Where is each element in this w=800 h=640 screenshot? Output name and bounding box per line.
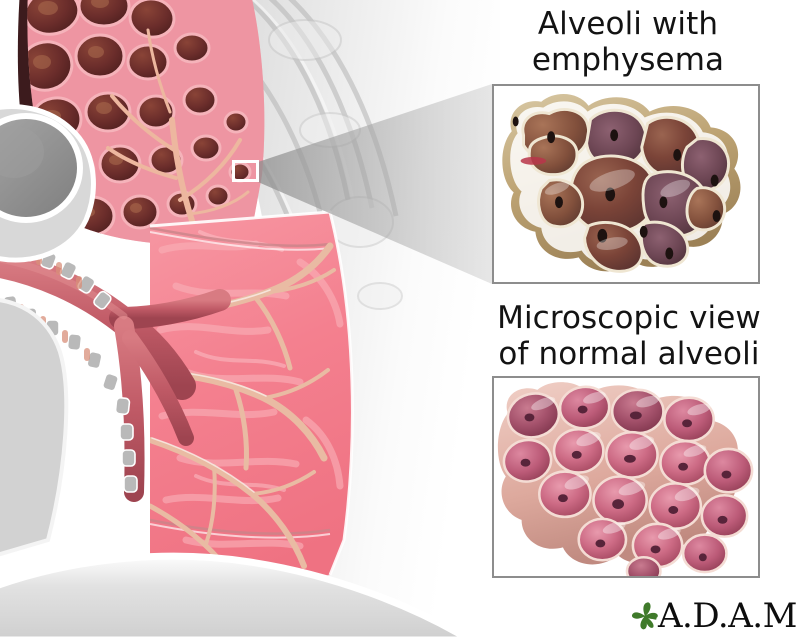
illustration-canvas: Alveoli with emphysema: [0, 0, 800, 640]
callout-source-box: [232, 160, 259, 182]
capillary-detail: [521, 157, 547, 165]
panel-title-normal: Microscopic view of normal alveoli: [476, 300, 782, 372]
panel-title-emphysema: Alveoli with emphysema: [478, 6, 778, 78]
lung-cross-section-figure: [0, 0, 500, 640]
adam-logo: A.D.A.M.: [630, 596, 780, 636]
normal-alveoli-illustration: [494, 378, 758, 577]
emphysema-alveoli-illustration: [494, 86, 758, 283]
leaf-icon: [630, 601, 660, 631]
inset-panel-emphysema: [492, 84, 760, 284]
inset-panel-normal: [492, 376, 760, 578]
adam-wordmark: A.D.A.M.: [658, 599, 800, 633]
